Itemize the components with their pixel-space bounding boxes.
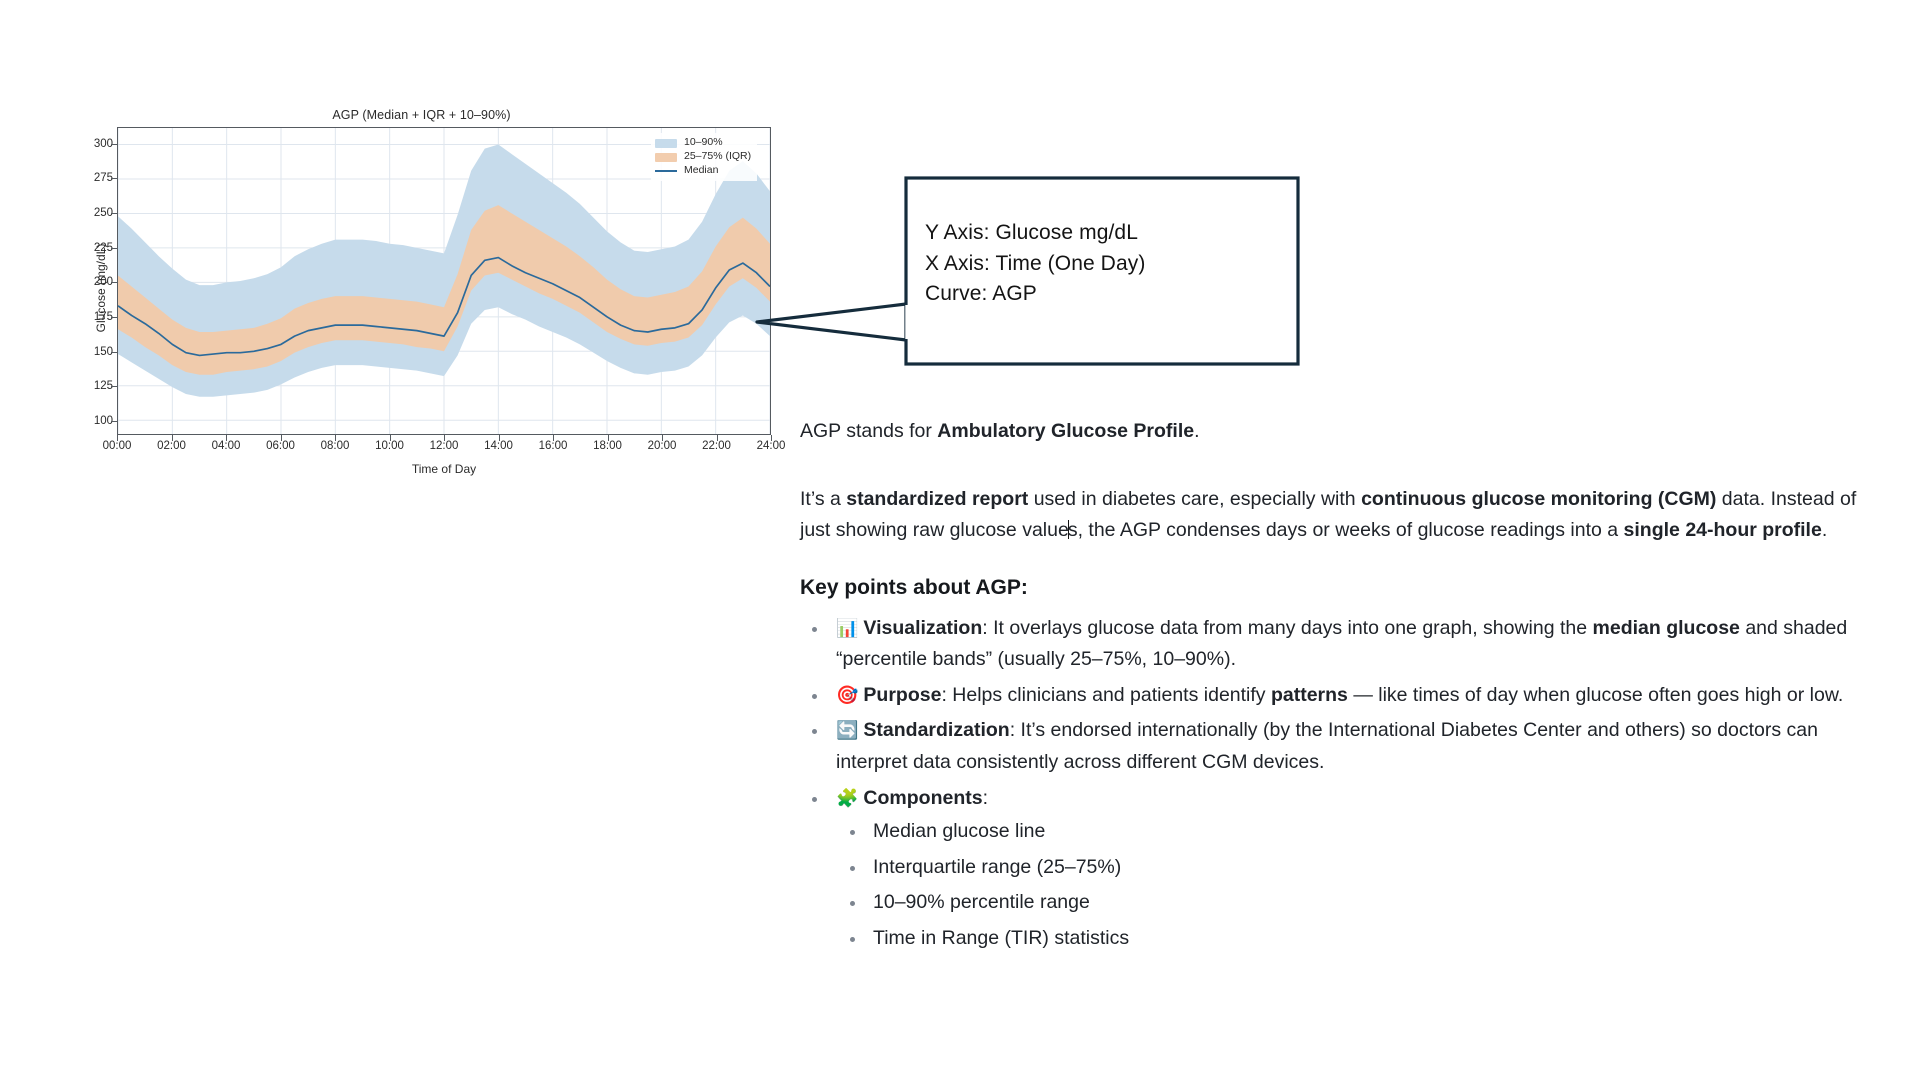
- x-tick-mark: [281, 435, 282, 441]
- x-tick-label: 12:00: [414, 440, 474, 452]
- x-tick-label: 04:00: [196, 440, 256, 452]
- key-point-text: : Helps clinicians and patients identify: [941, 684, 1271, 706]
- p2-a: It’s a: [800, 488, 846, 510]
- bar-chart-emoji: 📊: [836, 618, 858, 638]
- chart-legend: 10–90%25–75% (IQR)Median: [651, 133, 757, 181]
- x-tick-label: 16:00: [523, 440, 583, 452]
- x-tick-mark: [226, 435, 227, 441]
- key-point-term-2: patterns: [1271, 684, 1348, 706]
- legend-color-swatch: [655, 139, 677, 148]
- agp-chart-panel: AGP (Median + IQR + 10–90%) Glucose (mg/…: [64, 100, 779, 485]
- x-tick-mark: [662, 435, 663, 441]
- y-tick-label: 100: [57, 415, 113, 427]
- p1-pre: AGP stands for: [800, 420, 937, 442]
- section-heading: Key points about AGP:: [800, 571, 1875, 605]
- legend-line-swatch: [655, 170, 677, 172]
- p2-b: used in diabetes care, especially with: [1028, 488, 1361, 510]
- key-point-item: 📊Visualization: It overlays glucose data…: [800, 613, 1875, 676]
- puzzle-emoji: 🧩: [836, 788, 858, 808]
- component-item: 10–90% percentile range: [836, 887, 1875, 919]
- key-point-term: Visualization: [863, 617, 982, 639]
- y-tick-mark: [111, 178, 117, 179]
- y-tick-mark: [111, 317, 117, 318]
- legend-item: Median: [655, 164, 751, 178]
- x-tick-label: 14:00: [469, 440, 529, 452]
- x-tick-label: 20:00: [632, 440, 692, 452]
- component-item: Time in Range (TIR) statistics: [836, 923, 1875, 955]
- callout-annotation: Y Axis: Glucose mg/dLX Axis: Time (One D…: [740, 176, 1300, 366]
- y-tick-mark: [111, 421, 117, 422]
- p2-bold-3: single 24-hour profile: [1624, 519, 1822, 541]
- y-tick-mark: [111, 248, 117, 249]
- legend-item: 25–75% (IQR): [655, 150, 751, 164]
- legend-color-swatch: [655, 153, 677, 162]
- y-tick-label: 225: [57, 242, 113, 254]
- y-tick-label: 300: [57, 138, 113, 150]
- callout-text: Y Axis: Glucose mg/dLX Axis: Time (One D…: [925, 218, 1145, 310]
- x-tick-mark: [444, 435, 445, 441]
- target-emoji: 🎯: [836, 685, 858, 705]
- key-point-term-2: median glucose: [1593, 617, 1740, 639]
- x-tick-label: 02:00: [142, 440, 202, 452]
- key-point-term: Components: [863, 787, 982, 809]
- p2-e: .: [1822, 519, 1827, 541]
- x-tick-label: 00:00: [87, 440, 147, 452]
- key-point-text: : It overlays glucose data from many day…: [982, 617, 1592, 639]
- x-tick-mark: [117, 435, 118, 441]
- key-point-text: :: [983, 787, 988, 809]
- y-tick-label: 175: [57, 311, 113, 323]
- y-tick-mark: [111, 386, 117, 387]
- y-tick-label: 275: [57, 172, 113, 184]
- y-tick-mark: [111, 282, 117, 283]
- x-tick-label: 08:00: [305, 440, 365, 452]
- key-point-term: Standardization: [863, 719, 1009, 741]
- key-point-term: Purpose: [863, 684, 941, 706]
- paragraph-definition: AGP stands for Ambulatory Glucose Profil…: [800, 416, 1875, 448]
- callout-line: X Axis: Time (One Day): [925, 249, 1145, 280]
- p1-bold: Ambulatory Glucose Profile: [937, 420, 1194, 442]
- x-tick-mark: [717, 435, 718, 441]
- key-point-item: 🔄Standardization: It’s endorsed internat…: [800, 715, 1875, 778]
- x-tick-label: 18:00: [578, 440, 638, 452]
- y-tick-label: 250: [57, 207, 113, 219]
- x-tick-mark: [771, 435, 772, 441]
- legend-label: Median: [684, 164, 718, 178]
- key-point-item: 🧩Components:Median glucose lineInterquar…: [800, 783, 1875, 955]
- y-tick-mark: [111, 352, 117, 353]
- legend-label: 25–75% (IQR): [684, 150, 751, 164]
- x-tick-label: 24:00: [741, 440, 801, 452]
- y-tick-label: 200: [57, 276, 113, 288]
- paragraph-description: It’s a standardized report used in diabe…: [800, 484, 1875, 547]
- legend-label: 10–90%: [684, 136, 723, 150]
- p1-post: .: [1194, 420, 1199, 442]
- chart-title: AGP (Median + IQR + 10–90%): [64, 108, 779, 122]
- x-tick-mark: [553, 435, 554, 441]
- x-tick-mark: [608, 435, 609, 441]
- x-axis-label: Time of Day: [117, 462, 771, 476]
- callout-line: Y Axis: Glucose mg/dL: [925, 218, 1145, 249]
- key-point-text-2: — like times of day when glucose often g…: [1348, 684, 1843, 706]
- x-tick-mark: [499, 435, 500, 441]
- p2-d: s, the AGP condenses days or weeks of gl…: [1068, 519, 1624, 541]
- y-tick-mark: [111, 213, 117, 214]
- components-list: Median glucose lineInterquartile range (…: [836, 816, 1875, 954]
- x-tick-mark: [335, 435, 336, 441]
- key-point-item: 🎯Purpose: Helps clinicians and patients …: [800, 680, 1875, 712]
- y-tick-label: 150: [57, 346, 113, 358]
- p2-bold-1: standardized report: [846, 488, 1028, 510]
- legend-item: 10–90%: [655, 136, 751, 150]
- x-tick-label: 06:00: [251, 440, 311, 452]
- x-tick-mark: [390, 435, 391, 441]
- refresh-emoji: 🔄: [836, 720, 858, 740]
- x-tick-label: 10:00: [360, 440, 420, 452]
- x-tick-label: 22:00: [687, 440, 747, 452]
- x-tick-mark: [172, 435, 173, 441]
- component-item: Interquartile range (25–75%): [836, 852, 1875, 884]
- component-item: Median glucose line: [836, 816, 1875, 848]
- key-points-list: 📊Visualization: It overlays glucose data…: [800, 613, 1875, 955]
- y-tick-mark: [111, 144, 117, 145]
- callout-line: Curve: AGP: [925, 279, 1145, 310]
- article-body: AGP stands for Ambulatory Glucose Profil…: [800, 416, 1875, 959]
- p2-bold-2: continuous glucose monitoring (CGM): [1361, 488, 1716, 510]
- y-tick-label: 125: [57, 380, 113, 392]
